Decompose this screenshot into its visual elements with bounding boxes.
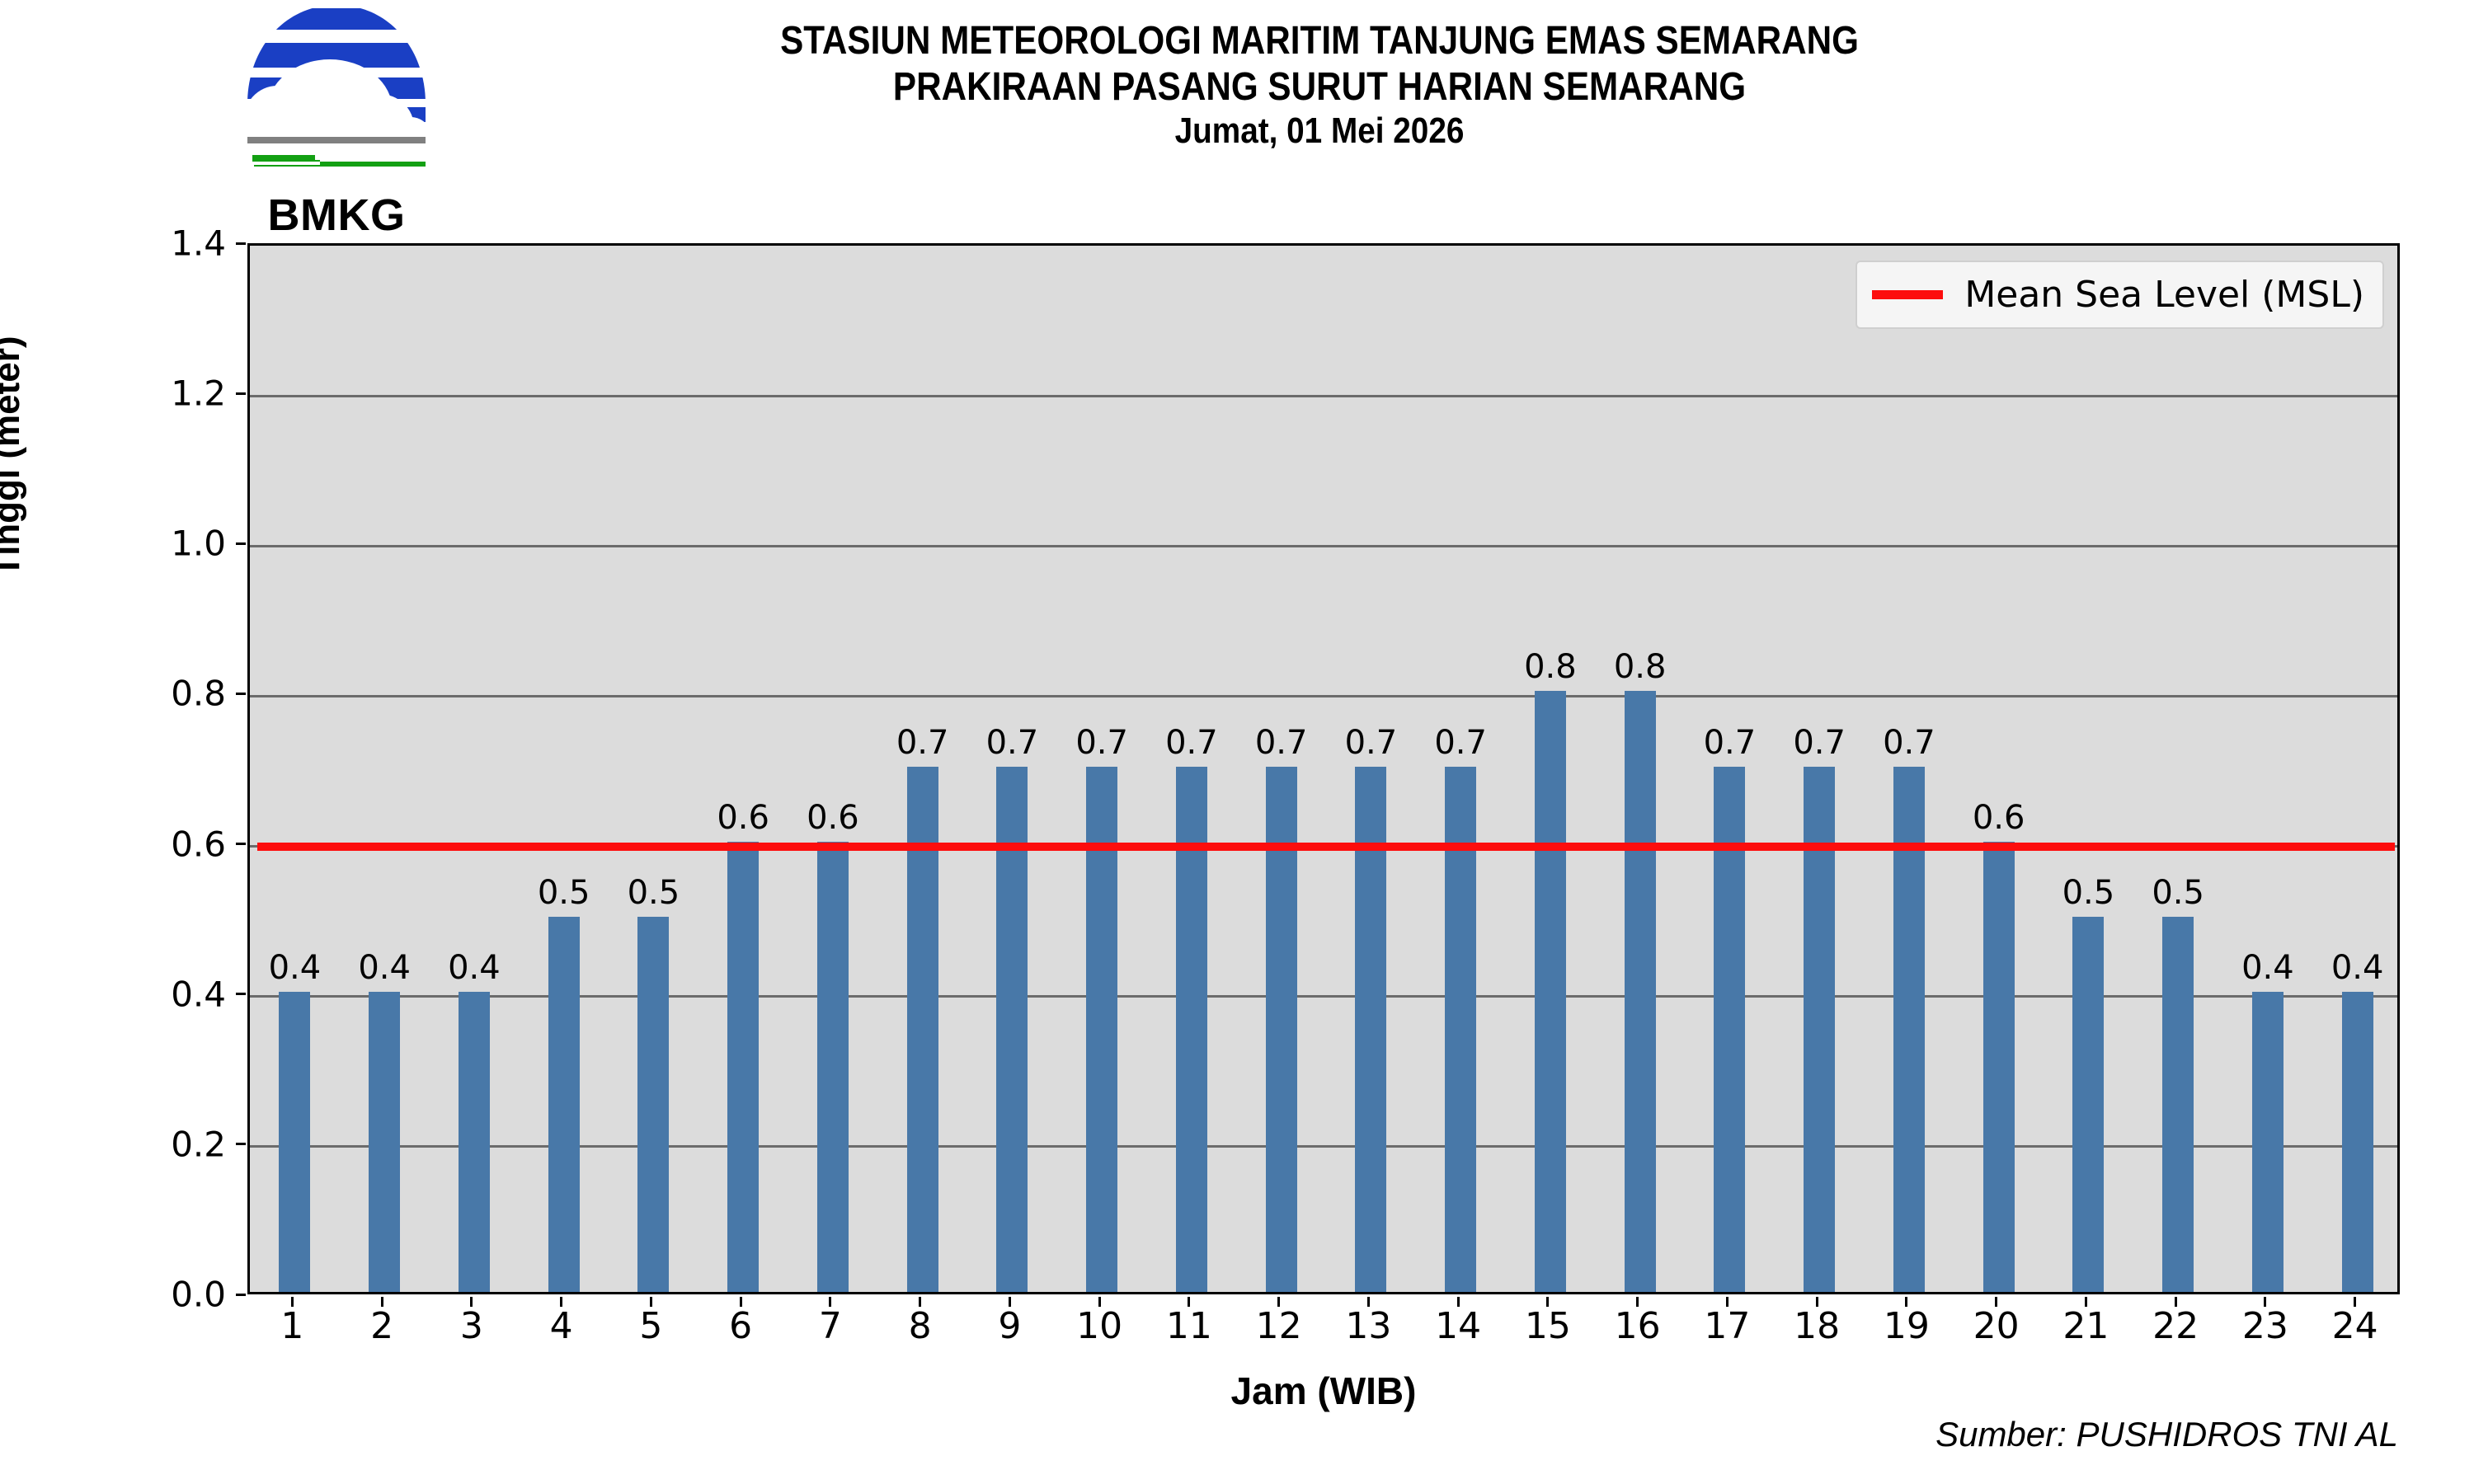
x-tick-mark [1367, 1297, 1370, 1307]
x-tick-label: 21 [2062, 1305, 2109, 1347]
bar-value-label: 0.6 [1973, 799, 2025, 837]
bar-value-label: 0.4 [269, 949, 322, 987]
x-tick-mark [2085, 1297, 2087, 1307]
x-tick-mark [1546, 1297, 1549, 1307]
x-tick-mark [919, 1297, 921, 1307]
x-tick-label: 11 [1166, 1305, 1212, 1347]
bar [1625, 691, 1656, 1292]
bar-value-label: 0.7 [1704, 724, 1757, 762]
x-tick-label: 1 [280, 1305, 303, 1347]
msl-line [257, 843, 2396, 851]
x-tick-label: 17 [1704, 1305, 1750, 1347]
bar-value-label: 0.7 [1793, 724, 1846, 762]
chart-date: Jumat, 01 Mei 2026 [550, 110, 2089, 152]
bar-value-label: 0.6 [807, 799, 859, 837]
x-axis-label: Jam (WIB) [247, 1369, 2400, 1413]
chart-legend[interactable]: Mean Sea Level (MSL) [1855, 261, 2384, 329]
y-tick-mark [236, 693, 246, 695]
x-tick-label: 24 [2332, 1305, 2378, 1347]
x-tick-label: 4 [550, 1305, 573, 1347]
bar-value-label: 0.4 [448, 949, 501, 987]
bar-value-label: 0.5 [628, 874, 680, 912]
bar [279, 992, 310, 1292]
chart-subtitle: PRAKIRAAN PASANG SURUT HARIAN SEMARANG [550, 64, 2089, 110]
x-tick-label: 7 [819, 1305, 842, 1347]
x-tick-mark [1188, 1297, 1190, 1307]
bar-value-label: 0.5 [538, 874, 590, 912]
x-tick-mark [381, 1297, 383, 1307]
bar [637, 917, 669, 1292]
x-tick-mark [1009, 1297, 1011, 1307]
bar [2162, 917, 2194, 1292]
bar-series: 0.40.40.40.50.50.60.60.70.70.70.70.70.70… [250, 246, 2397, 1292]
bar-value-label: 0.7 [1165, 724, 1218, 762]
x-tick-label: 23 [2242, 1305, 2288, 1347]
y-tick-mark [236, 993, 246, 995]
y-tick-label: 0.4 [171, 974, 226, 1014]
y-tick-label: 1.2 [171, 373, 226, 414]
bar [1535, 691, 1566, 1292]
y-tick-label: 1.0 [171, 524, 226, 564]
bar [817, 842, 849, 1292]
bmkg-logo-icon [241, 2, 432, 193]
bar-value-label: 0.5 [2152, 874, 2204, 912]
x-tick-label: 13 [1345, 1305, 1391, 1347]
bar-value-label: 0.7 [1434, 724, 1487, 762]
x-tick-label: 14 [1435, 1305, 1481, 1347]
x-tick-label: 5 [639, 1305, 662, 1347]
bar [369, 992, 400, 1292]
x-tick-mark [560, 1297, 562, 1307]
x-tick-mark [1636, 1297, 1639, 1307]
bar-value-label: 0.7 [896, 724, 949, 762]
x-tick-mark [470, 1297, 473, 1307]
bar [459, 992, 490, 1292]
y-tick-label: 0.2 [171, 1124, 226, 1164]
x-tick-mark [1726, 1297, 1729, 1307]
x-tick-label: 16 [1615, 1305, 1661, 1347]
x-tick-mark [2354, 1297, 2356, 1307]
source-note: Sumber: PUSHIDROS TNI AL [1935, 1415, 2398, 1454]
bar-value-label: 0.7 [986, 724, 1039, 762]
y-tick-label: 0.0 [171, 1275, 226, 1315]
x-tick-mark [829, 1297, 831, 1307]
bar-value-label: 0.8 [1524, 648, 1577, 686]
y-tick-mark [236, 843, 246, 845]
x-tick-mark [1098, 1297, 1101, 1307]
y-tick-label: 0.6 [171, 824, 226, 864]
bar-value-label: 0.7 [1075, 724, 1128, 762]
bar-value-label: 0.5 [2062, 874, 2115, 912]
bar-value-label: 0.6 [717, 799, 769, 837]
x-tick-label: 3 [460, 1305, 483, 1347]
bmkg-logo-label: BMKG [241, 190, 432, 241]
chart-page: BMKG STASIUN METEOROLOGI MARITIM TANJUNG… [0, 0, 2474, 1484]
bar-value-label: 0.4 [2331, 949, 2384, 987]
x-tick-label: 2 [370, 1305, 393, 1347]
bar-value-label: 0.7 [1883, 724, 1935, 762]
y-tick-mark [236, 392, 246, 395]
bar-value-label: 0.7 [1255, 724, 1308, 762]
x-tick-mark [1995, 1297, 1997, 1307]
x-tick-label: 15 [1525, 1305, 1571, 1347]
msl-legend-swatch-icon [1872, 290, 1943, 299]
x-tick-label: 9 [998, 1305, 1021, 1347]
x-tick-mark [1457, 1297, 1460, 1307]
y-axis-label: Tinggi (meter) [0, 336, 28, 577]
x-tick-label: 8 [909, 1305, 932, 1347]
x-tick-mark [740, 1297, 742, 1307]
y-tick-mark [236, 1294, 246, 1296]
y-tick-label: 0.8 [171, 674, 226, 714]
page-title: STASIUN METEOROLOGI MARITIM TANJUNG EMAS… [550, 18, 2089, 64]
x-tick-label: 18 [1794, 1305, 1840, 1347]
x-tick-label: 20 [1973, 1305, 2020, 1347]
plot-area: 0.40.40.40.50.50.60.60.70.70.70.70.70.70… [247, 243, 2400, 1294]
bar [727, 842, 759, 1292]
x-tick-mark [291, 1297, 294, 1307]
bar [548, 917, 580, 1292]
bar-value-label: 0.4 [2241, 949, 2294, 987]
y-tick-mark [236, 542, 246, 545]
y-tick-label: 1.4 [171, 223, 226, 264]
x-tick-label: 19 [1884, 1305, 1930, 1347]
x-tick-mark [650, 1297, 652, 1307]
bar-value-label: 0.4 [358, 949, 411, 987]
x-tick-mark [2264, 1297, 2266, 1307]
x-tick-label: 12 [1256, 1305, 1302, 1347]
x-tick-mark [2175, 1297, 2177, 1307]
chart-title-block: STASIUN METEOROLOGI MARITIM TANJUNG EMAS… [445, 18, 2194, 152]
bar [2342, 992, 2373, 1292]
x-tick-label: 10 [1076, 1305, 1122, 1347]
bar-value-label: 0.8 [1614, 648, 1667, 686]
x-tick-label: 6 [729, 1305, 752, 1347]
y-tick-mark [236, 242, 246, 245]
x-tick-mark [1816, 1297, 1818, 1307]
y-tick-mark [236, 1143, 246, 1145]
legend-item-label: Mean Sea Level (MSL) [1964, 274, 2364, 316]
x-tick-mark [1905, 1297, 1907, 1307]
bar [2072, 917, 2104, 1292]
x-tick-mark [1277, 1297, 1280, 1307]
x-tick-label: 22 [2152, 1305, 2199, 1347]
bar [2252, 992, 2284, 1292]
bmkg-logo: BMKG [241, 2, 432, 232]
bar [1983, 842, 2015, 1292]
bar-value-label: 0.7 [1345, 724, 1398, 762]
